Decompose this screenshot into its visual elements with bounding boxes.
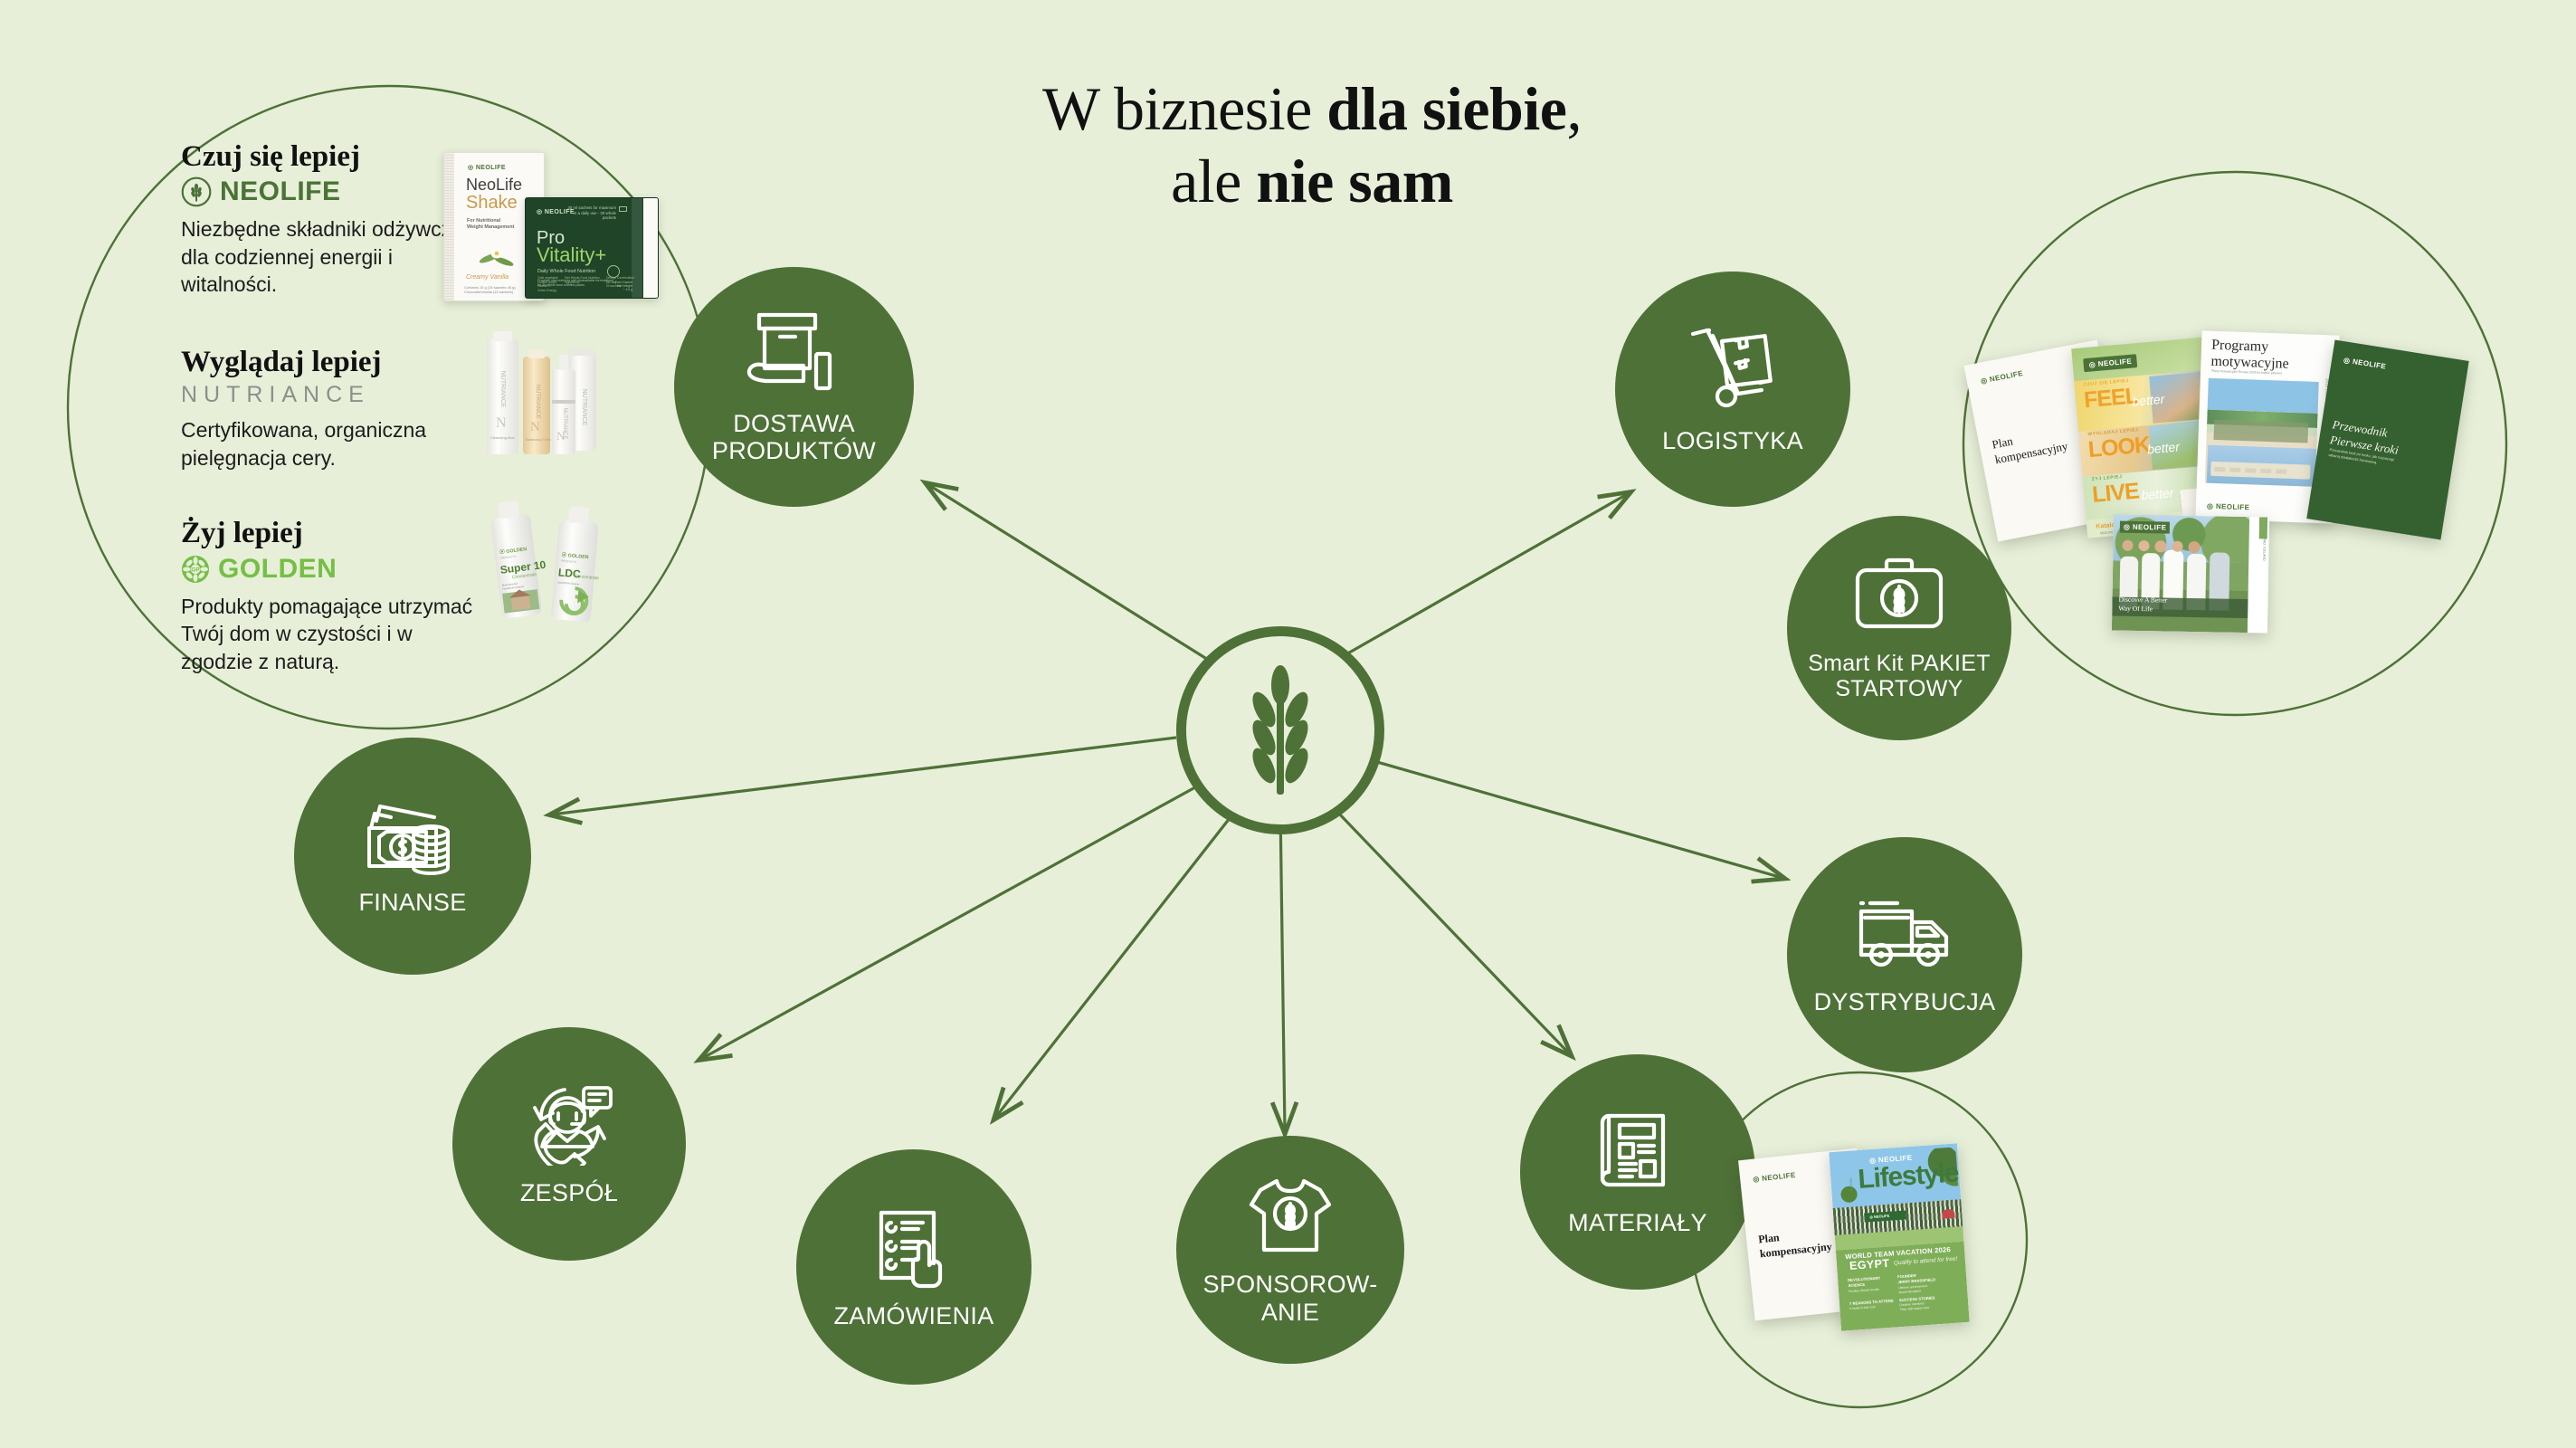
node-materialy[interactable]: MATERIAŁY [1520, 1054, 1755, 1290]
brand-name-nutriance: NUTRIANCE [181, 382, 370, 408]
headset-support-icon [522, 1081, 616, 1170]
svg-text:GP: GP [191, 567, 200, 573]
brochure-discover-better-way-of-life: Discover A BetterWay Of Life ◎ NEOLIFE U… [2112, 515, 2269, 633]
svg-text:N: N [556, 429, 566, 443]
node-label-dostawa: DOSTAWA PRODUKTÓW [705, 410, 883, 464]
svg-text:N: N [530, 420, 540, 434]
edge-to-sponsorowanie [1280, 808, 1285, 1131]
node-smart-kit[interactable]: Smart Kit PAKIET STARTOWY [1787, 516, 2011, 740]
newspaper-icon [1596, 1107, 1679, 1200]
node-label-sponsorowanie: SPONSOROW- ANIE [1195, 1271, 1384, 1325]
node-label-dystrybucja: DYSTRYBUCJA [1807, 988, 2003, 1015]
wheat-circle-icon [181, 176, 212, 207]
product-nutriance-set: NUTRIANCE NUTRIANCE N Cleansing Aloe NUT… [463, 319, 635, 454]
title-plain-2: ale [1171, 147, 1256, 215]
edge-to-zespol [701, 783, 1203, 1059]
node-label-smart-kit: Smart Kit PAKIET STARTOWY [1801, 651, 1998, 701]
checklist-hand-icon [872, 1204, 955, 1293]
svg-text:NUTRIANCE: NUTRIANCE [581, 389, 587, 426]
tshirt-wheat-icon [1246, 1174, 1335, 1262]
delivery-truck-icon [1856, 893, 1953, 979]
info-block-neolife: Czuj się lepiej NEOLIFE Niezbędne składn… [181, 140, 480, 299]
node-label-logistyka: LOGISTYKA [1655, 427, 1811, 454]
svg-text:NUTRIANCE: NUTRIANCE [535, 385, 541, 420]
node-zespol[interactable]: ZESPÓŁ [452, 1027, 686, 1261]
brochure-przewodnik-pierwsze-kroki: ◎ NEOLIFE PrzewodnikPierwsze kroki Przew… [2306, 339, 2468, 539]
edge-to-dostawa [927, 484, 1220, 667]
node-label-zamowienia: ZAMÓWIENIA [827, 1302, 1002, 1329]
product-golden-set: ⦿ GOLDEN PRODUCTS Super 10 Concentrate M… [474, 491, 619, 626]
hub-neolife-logo[interactable] [1176, 626, 1384, 834]
info-desc-golden: Produkty pomagające utrzymać Twój dom w … [181, 593, 480, 676]
brand-name-neolife: NEOLIFE [220, 176, 341, 207]
svg-text:Cleansing Aloe: Cleansing Aloe [490, 435, 515, 440]
page-title: W biznesie dla siebie, ale nie sam [950, 72, 1674, 217]
title-comma: , [1566, 74, 1582, 143]
info-heading-feel-better: Czuj się lepiej [181, 140, 480, 173]
edge-to-finanse [552, 738, 1176, 814]
node-dystrybucja[interactable]: DYSTRYBUCJA [1787, 837, 2022, 1072]
node-logistyka[interactable]: LOGISTYKA [1615, 271, 1850, 507]
brand-name-golden: GOLDEN [218, 554, 337, 585]
info-heading-look-better: Wyglądaj lepiej [181, 346, 480, 378]
node-label-finanse: FINANSE [351, 889, 473, 916]
node-finanse[interactable]: FINANSE [294, 738, 531, 975]
edge-to-zamowienia [995, 805, 1240, 1118]
title-bold-1: dla siebie [1326, 74, 1566, 143]
node-label-zespol: ZESPÓŁ [513, 1179, 625, 1206]
brand-nutriance: NUTRIANCE [181, 382, 480, 408]
info-block-nutriance: Wyglądaj lepiej NUTRIANCE Certyfikowana,… [181, 346, 480, 472]
wheat-stalk-icon [1226, 662, 1335, 798]
svg-text:N: N [496, 415, 507, 431]
title-line-2: ale nie sam [950, 145, 1674, 217]
briefcase-wheat-icon [1852, 556, 1946, 642]
node-sponsorowanie[interactable]: SPONSOROW- ANIE [1176, 1136, 1404, 1364]
brochure-lifestyle-magazine: ◎ NEOLIFE ◎ NEOLIFE Lifestyle NEOLIFE WO… [1829, 1143, 1969, 1330]
diagram-canvas: W biznesie dla siebie, ale nie sam Czuj … [0, 0, 2576, 1448]
product-pro-vitality: ◎ NEOLIFE 30 ml sachets for maximumin a … [525, 197, 659, 299]
info-desc-nutriance: Certyfikowana, organiczna pielęgnacja ce… [181, 416, 480, 472]
node-label-materialy: MATERIAŁY [1561, 1209, 1715, 1236]
svg-text:Balancing Tonic: Balancing Tonic [526, 437, 551, 442]
info-heading-live-better: Żyj lepiej [181, 517, 480, 549]
title-bold-2: nie sam [1256, 147, 1453, 215]
product-info-panel: Czuj się lepiej NEOLIFE Niezbędne składn… [181, 140, 480, 700]
brand-neolife: NEOLIFE [181, 176, 480, 207]
info-block-golden: Żyj lepiej [181, 517, 480, 675]
edge-to-dystrybucja [1339, 751, 1782, 878]
golden-flower-icon: GP [181, 555, 210, 584]
svg-text:NUTRIANCE: NUTRIANCE [499, 371, 506, 408]
title-line-1: W biznesie dla siebie, [950, 72, 1674, 145]
edge-to-materialy [1317, 790, 1570, 1054]
brand-golden: GP GOLDEN [181, 554, 480, 585]
vanilla-flower-icon [471, 240, 522, 274]
node-dostawa-produktow[interactable]: DOSTAWA PRODUKTÓW [674, 267, 914, 507]
hand-truck-icon [1686, 323, 1780, 418]
info-desc-neolife: Niezbędne składniki odżywcze dla codzien… [181, 215, 480, 299]
title-plain-1: W biznesie [1042, 74, 1326, 143]
box-in-hand-icon [746, 310, 843, 401]
cash-coins-icon [364, 795, 461, 880]
edge-to-logistyka [1326, 493, 1629, 666]
node-zamowienia[interactable]: ZAMÓWIENIA [796, 1149, 1031, 1385]
